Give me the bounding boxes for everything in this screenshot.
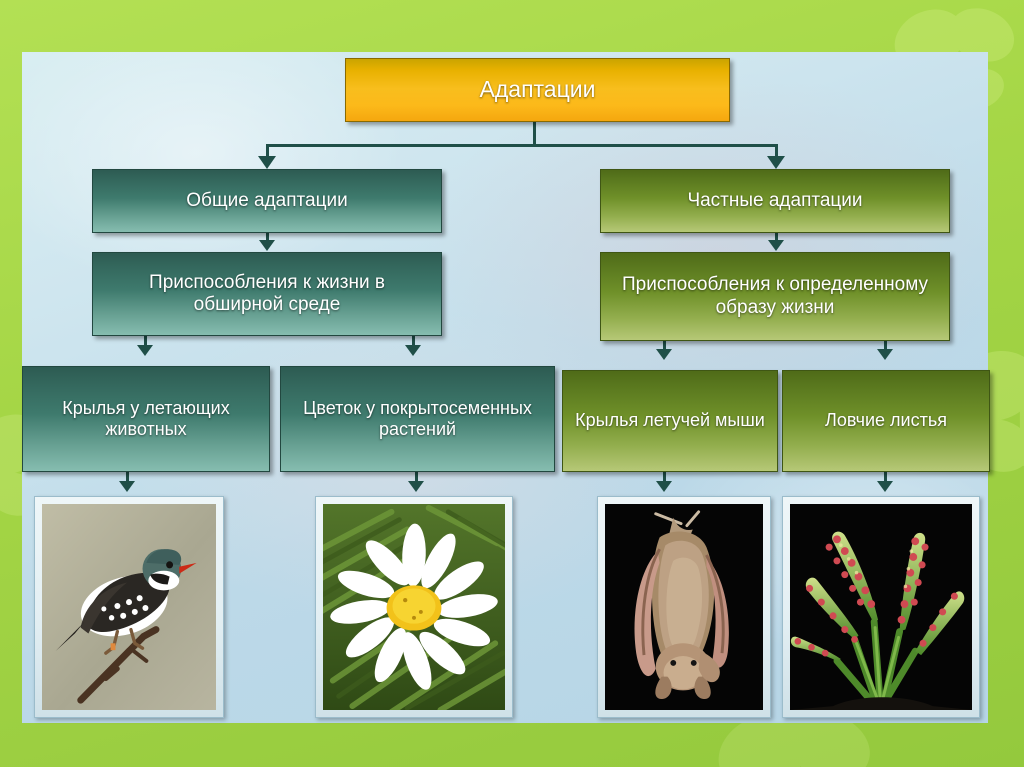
node-flower-angiosperms-label: Цветок у покрытосеменных растений — [281, 398, 554, 440]
connector-root-stem — [533, 122, 536, 146]
slide-canvas: Адаптации Общие адаптации Частные адапта… — [0, 0, 1024, 767]
arrow-l2-l3-d — [877, 349, 893, 360]
connector-root-split — [267, 144, 777, 147]
node-wings-flying-animals[interactable]: Крылья у летающих животных — [22, 366, 270, 472]
arrow-to-right-branch — [767, 156, 785, 169]
node-general-adaptations-label: Общие адаптации — [176, 190, 357, 212]
node-general-adaptations[interactable]: Общие адаптации — [92, 169, 442, 233]
sundew-image — [790, 504, 972, 710]
arrow-l1-l2-left — [259, 240, 275, 251]
node-flower-angiosperms[interactable]: Цветок у покрытосеменных растений — [280, 366, 555, 472]
node-broad-environment-label: Приспособления к жизни в обширной среде — [93, 272, 441, 317]
arrow-l2-l3-b — [405, 345, 421, 356]
bird-image — [42, 504, 216, 710]
bird-photo[interactable]: Птица (амадина) на ветке — [34, 496, 224, 718]
node-specific-adaptations-label: Частные адаптации — [677, 190, 872, 212]
node-wings-flying-animals-label: Крылья у летающих животных — [23, 398, 269, 440]
daisy-photo[interactable]: Цветок ромашки на траве — [315, 496, 513, 718]
node-bat-wings-label: Крылья летучей мыши — [565, 410, 775, 431]
node-specific-lifestyle-label: Приспособления к определенному образу жи… — [601, 274, 949, 319]
sundew-photo[interactable]: Росянка — ловчие листья — [782, 496, 980, 718]
node-specific-lifestyle[interactable]: Приспособления к определенному образу жи… — [600, 252, 950, 341]
arrow-l2-l3-c — [656, 349, 672, 360]
arrow-photo-4 — [877, 481, 893, 492]
arrow-photo-3 — [656, 481, 672, 492]
bat-photo[interactable]: Летучая мышь вниз головой — [597, 496, 771, 718]
daisy-image — [323, 504, 505, 710]
bat-image — [605, 504, 763, 710]
node-broad-environment[interactable]: Приспособления к жизни в обширной среде — [92, 252, 442, 336]
arrow-l1-l2-right — [768, 240, 784, 251]
arrow-photo-1 — [119, 481, 135, 492]
node-specific-adaptations[interactable]: Частные адаптации — [600, 169, 950, 233]
node-root-adaptations[interactable]: Адаптации — [345, 58, 730, 122]
arrow-to-left-branch — [258, 156, 276, 169]
node-bat-wings[interactable]: Крылья летучей мыши — [562, 370, 778, 472]
node-root-label: Адаптации — [470, 76, 606, 103]
arrow-l2-l3-a — [137, 345, 153, 356]
node-trap-leaves[interactable]: Ловчие листья — [782, 370, 990, 472]
node-trap-leaves-label: Ловчие листья — [815, 410, 957, 431]
arrow-photo-2 — [408, 481, 424, 492]
